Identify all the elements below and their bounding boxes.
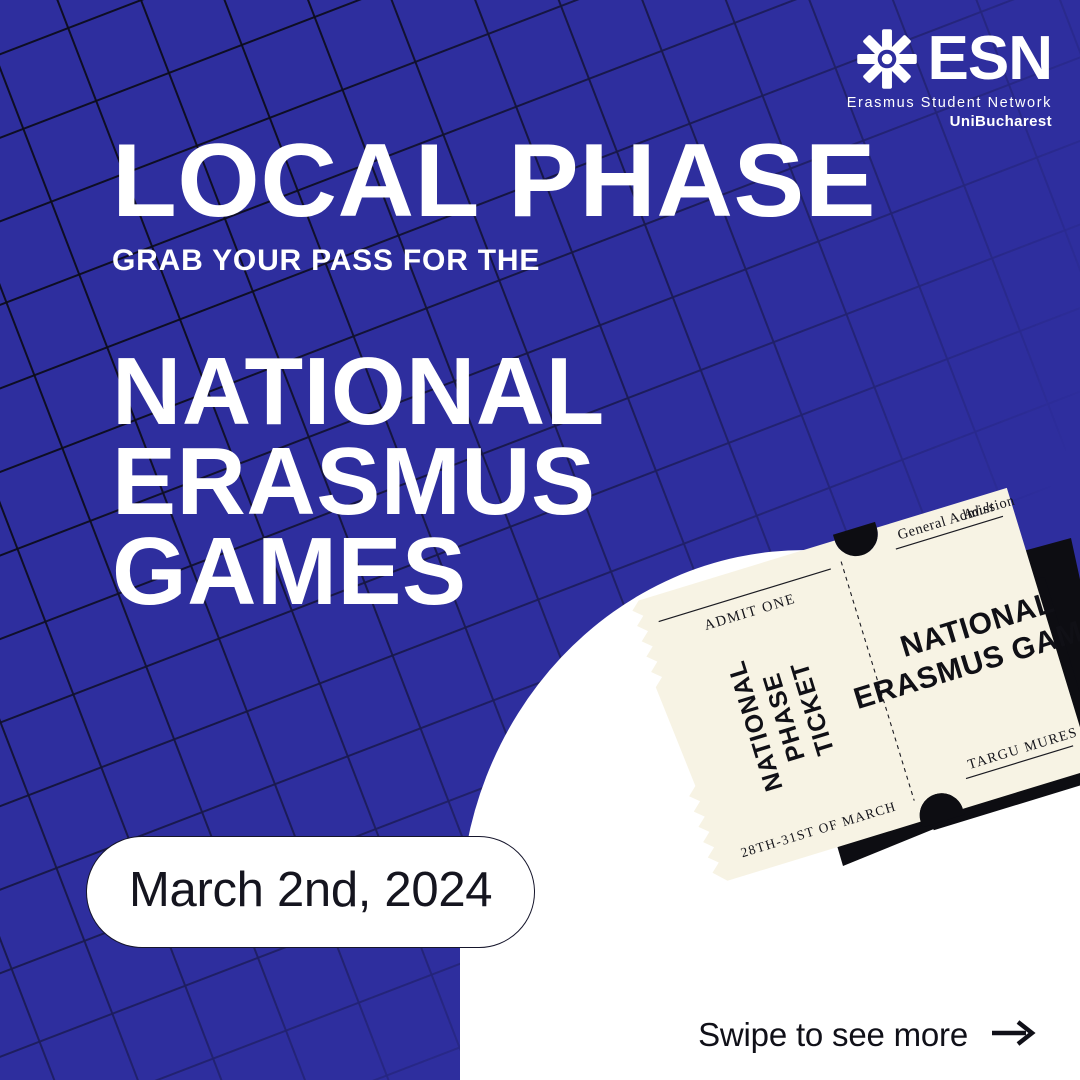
event-title-line-2: ERASMUS [112, 437, 605, 527]
event-title-line-3: GAMES [112, 527, 605, 617]
date-badge-label: March 2nd, 2024 [129, 863, 492, 917]
arrow-right-icon [990, 1018, 1036, 1053]
esn-logo-top-row: ESN [847, 28, 1052, 90]
esn-section-name: UniBucharest [847, 113, 1052, 130]
date-badge: March 2nd, 2024 [86, 836, 535, 948]
headline-kicker-large: LOCAL PHASE [112, 136, 876, 228]
esn-wordmark: ESN [928, 33, 1052, 85]
ticket-illustration: ADMIT ONE NATIONAL PHASE TICKET 28TH-31S… [645, 500, 1080, 960]
headline-kicker-small: GRAB YOUR PASS FOR THE [112, 244, 861, 278]
esn-logo: ESN Erasmus Student Network UniBucharest [847, 28, 1052, 130]
headline-block: LOCAL PHASE GRAB YOUR PASS FOR THE [112, 136, 861, 278]
event-title: NATIONAL ERASMUS GAMES [112, 347, 605, 618]
esn-tagline: Erasmus Student Network [847, 95, 1052, 111]
event-title-line-1: NATIONAL [112, 347, 605, 437]
esn-star-icon [856, 28, 918, 90]
poster-canvas: ESN Erasmus Student Network UniBucharest… [0, 0, 1080, 1080]
ticket-front-card: ADMIT ONE NATIONAL PHASE TICKET 28TH-31S… [628, 461, 1080, 895]
swipe-label: Swipe to see more [698, 1016, 968, 1054]
swipe-cta[interactable]: Swipe to see more [698, 1016, 1036, 1054]
